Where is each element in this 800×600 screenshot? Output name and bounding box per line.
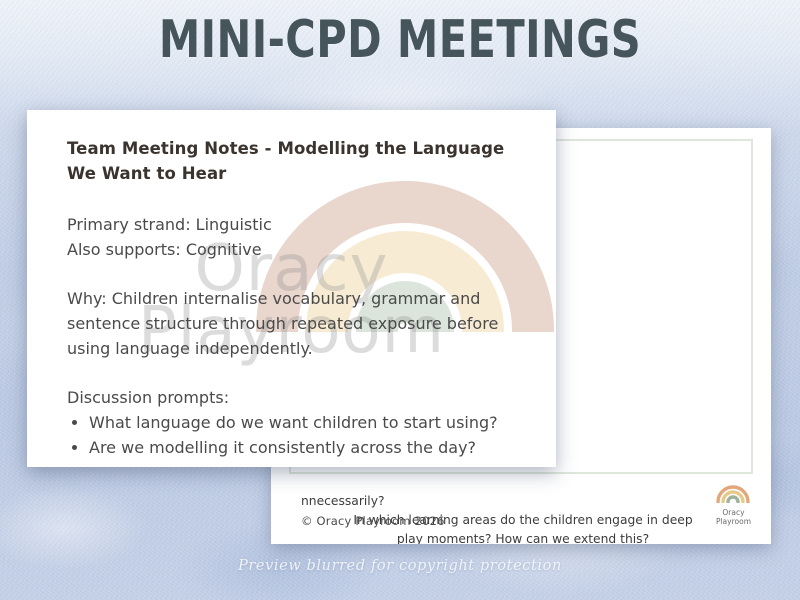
logo-wordmark: Oracy Playroom bbox=[716, 509, 751, 526]
spacer bbox=[67, 361, 526, 385]
preview-caption: Preview blurred for copyright protection bbox=[0, 558, 800, 574]
list-item: Are we modelling it consistently across … bbox=[89, 435, 526, 460]
discussion-prompts-label: Discussion prompts: bbox=[67, 385, 526, 410]
front-card-why: Why: Children internalise vocabulary, gr… bbox=[67, 286, 526, 361]
front-card-strands: Primary strand: Linguistic Also supports… bbox=[67, 212, 526, 262]
discussion-prompt-list: What language do we want children to sta… bbox=[67, 410, 526, 460]
logo-line-2: Playroom bbox=[716, 517, 751, 526]
copyright-text: © Oracy Playroom 2026 bbox=[301, 514, 445, 528]
page-title: MINI-CPD MEETINGS bbox=[80, 14, 720, 66]
back-card-footer: © Oracy Playroom 2026 Oracy Playroom bbox=[301, 483, 751, 528]
also-supports-text: Also supports: Cognitive bbox=[67, 237, 526, 262]
front-card-heading: Team Meeting Notes - Modelling the Langu… bbox=[67, 136, 526, 186]
list-item: What language do we want children to sta… bbox=[89, 410, 526, 435]
rainbow-logo-icon bbox=[716, 483, 750, 507]
front-card-prompts: Discussion prompts: What language do we … bbox=[67, 385, 526, 460]
primary-strand-text: Primary strand: Linguistic bbox=[67, 212, 526, 237]
back-question-line3: play moments? How can we extend this? bbox=[301, 530, 745, 544]
front-preview-card[interactable]: Oracy Playroom Team Meeting Notes - Mode… bbox=[27, 110, 556, 467]
front-card-content: Team Meeting Notes - Modelling the Langu… bbox=[67, 136, 526, 460]
brand-logo: Oracy Playroom bbox=[716, 483, 751, 526]
